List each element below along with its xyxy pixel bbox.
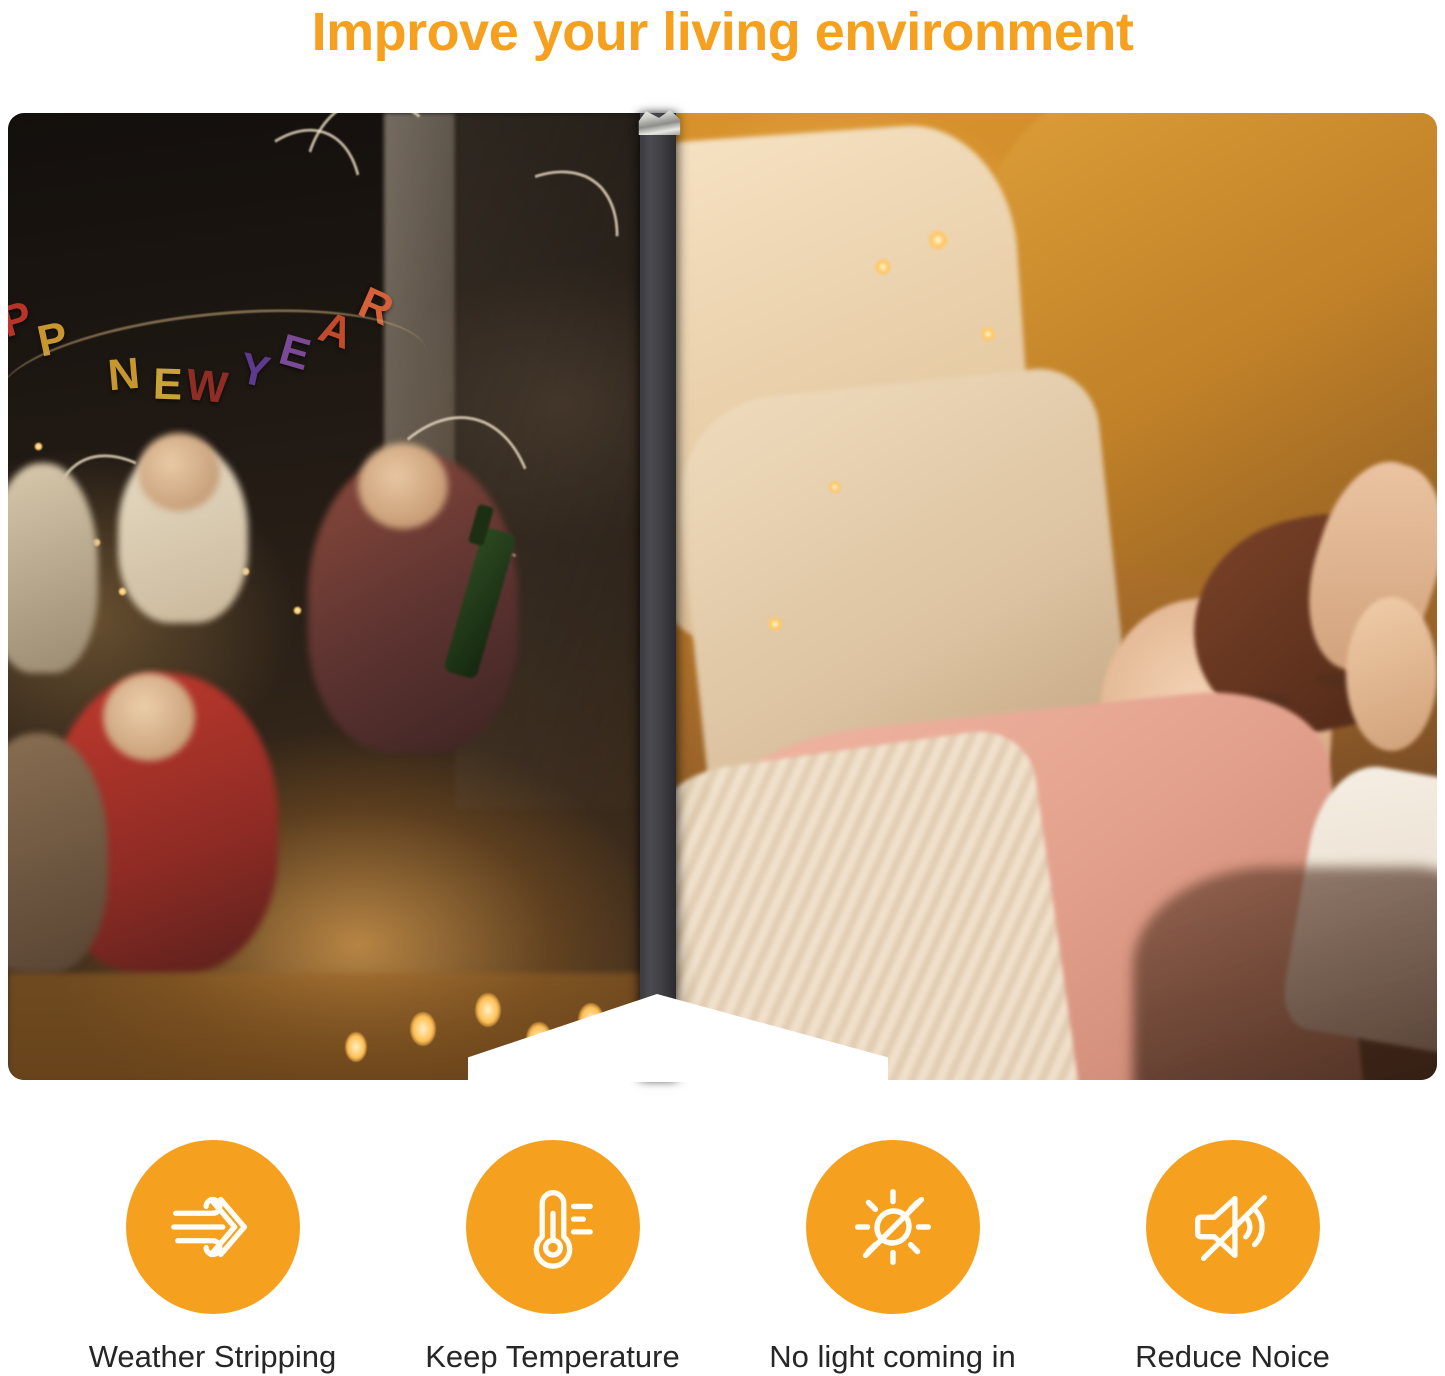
party-figure [138, 433, 220, 511]
feature-label: No light coming in [769, 1338, 1015, 1376]
feature-label: Reduce Noice [1135, 1338, 1330, 1376]
thermometer-icon [504, 1178, 602, 1276]
feature-icon-badge [1146, 1140, 1320, 1314]
feature-row: Weather Stripping Keep Temperature [0, 1140, 1445, 1376]
feature-icon-badge [466, 1140, 640, 1314]
no-sun-icon [844, 1178, 942, 1276]
party-figure [358, 443, 448, 529]
feature-reduce-noise[interactable]: Reduce Noice [1063, 1140, 1403, 1376]
feature-icon-badge [126, 1140, 300, 1314]
weather-strip-divider [640, 113, 676, 1080]
child-hand [1346, 597, 1437, 752]
new-year-party-photo: P P N E W Y E A R [8, 113, 656, 1080]
muted-speaker-icon [1184, 1178, 1282, 1276]
feature-weather-stripping[interactable]: Weather Stripping [43, 1140, 383, 1376]
feature-label: Weather Stripping [89, 1338, 337, 1376]
feature-label: Keep Temperature [425, 1338, 679, 1376]
feature-icon-badge [806, 1140, 980, 1314]
party-figure [103, 673, 195, 761]
feature-no-light[interactable]: No light coming in [723, 1140, 1063, 1376]
wind-arrow-icon [164, 1178, 262, 1276]
page-title: Improve your living environment [0, 2, 1445, 62]
hero-image-band: P P N E W Y E A R [8, 113, 1437, 1080]
feature-keep-temperature[interactable]: Keep Temperature [383, 1140, 723, 1376]
sleeping-child-photo [676, 113, 1437, 1080]
